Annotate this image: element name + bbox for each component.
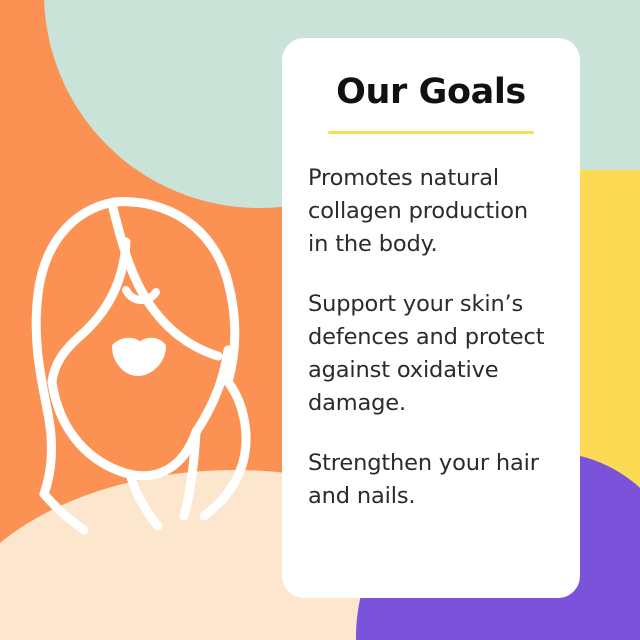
hair-strand-left (44, 494, 84, 530)
hair-left-outline (36, 202, 114, 494)
page-title: Our Goals (308, 74, 554, 111)
list-item: Promotes natural collagen production in … (308, 162, 554, 261)
goals-card: Our Goals Promotes natural collagen prod… (282, 38, 580, 598)
lips (114, 340, 164, 374)
goals-poster: Our Goals Promotes natural collagen prod… (0, 0, 640, 640)
goals-list: Promotes natural collagen production in … (308, 162, 554, 514)
woman-illustration (18, 186, 274, 538)
list-item: Support your skin’s defences and protect… (308, 288, 554, 420)
title-underline-rule (328, 131, 534, 134)
fringe-inner (52, 242, 126, 382)
hair-parting (112, 204, 218, 356)
face-contour (52, 382, 196, 476)
list-item: Strengthen your hair and nails. (308, 447, 554, 513)
neck-line (130, 474, 158, 526)
hair-strand-right-inner (196, 350, 228, 432)
